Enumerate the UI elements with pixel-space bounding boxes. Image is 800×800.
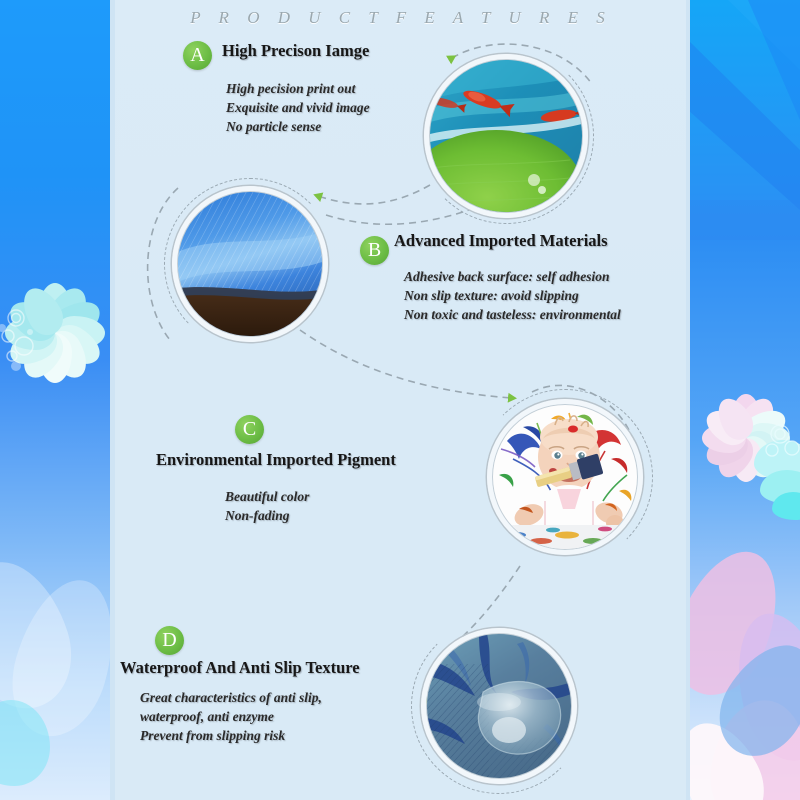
body-c-line-1: Beautiful color bbox=[225, 487, 309, 506]
baby-with-paintbrush-photo bbox=[493, 405, 637, 549]
koi-fish-printed-mat-photo bbox=[430, 60, 582, 212]
heading-b: Advanced Imported Materials bbox=[394, 231, 608, 251]
left-decorative-band bbox=[0, 0, 114, 800]
heading-c: Environmental Imported Pigment bbox=[156, 450, 396, 470]
heading-a: High Precison Iamge bbox=[222, 41, 369, 61]
body-d-line-1: Great characteristics of anti slip, bbox=[140, 688, 322, 707]
infographic-canvas: P R O D U C T F E A T U R E S A High Pre… bbox=[0, 0, 800, 800]
body-d: Great characteristics of anti slip, wate… bbox=[140, 688, 322, 745]
badge-d: D bbox=[155, 626, 184, 655]
body-b-line-2: Non slip texture: avoid slipping bbox=[404, 286, 621, 305]
body-a-line-3: No particle sense bbox=[226, 117, 370, 136]
panel-right-edge bbox=[686, 0, 690, 800]
badge-c: C bbox=[235, 415, 264, 444]
blue-textured-fabric-photo bbox=[178, 192, 322, 336]
photo-circle-d bbox=[421, 628, 577, 784]
panel-left-edge bbox=[110, 0, 115, 800]
body-b-line-1: Adhesive back surface: self adhesion bbox=[404, 267, 621, 286]
badge-a: A bbox=[183, 41, 212, 70]
body-b: Adhesive back surface: self adhesion Non… bbox=[404, 267, 621, 324]
body-a: High pecision print out Exquisite and vi… bbox=[226, 79, 370, 136]
page-title: P R O D U C T F E A T U R E S bbox=[114, 8, 688, 28]
body-d-line-2: waterproof, anti enzyme bbox=[140, 707, 322, 726]
body-c-line-2: Non-fading bbox=[225, 506, 309, 525]
photo-circle-b bbox=[172, 186, 328, 342]
left-flower-rosette bbox=[0, 268, 114, 398]
body-a-line-2: Exquisite and vivid image bbox=[226, 98, 370, 117]
body-d-line-3: Prevent from slipping risk bbox=[140, 726, 322, 745]
photo-circle-c bbox=[487, 399, 643, 555]
body-a-line-1: High pecision print out bbox=[226, 79, 370, 98]
right-decorative-band bbox=[688, 0, 800, 800]
water-droplet-on-fabric-photo bbox=[427, 634, 571, 778]
photo-circle-a bbox=[424, 54, 588, 218]
badge-b: B bbox=[360, 236, 389, 265]
heading-d: Waterproof And Anti Slip Texture bbox=[120, 658, 360, 678]
body-c: Beautiful color Non-fading bbox=[225, 487, 309, 525]
body-b-line-3: Non toxic and tasteless: environmental bbox=[404, 305, 621, 324]
